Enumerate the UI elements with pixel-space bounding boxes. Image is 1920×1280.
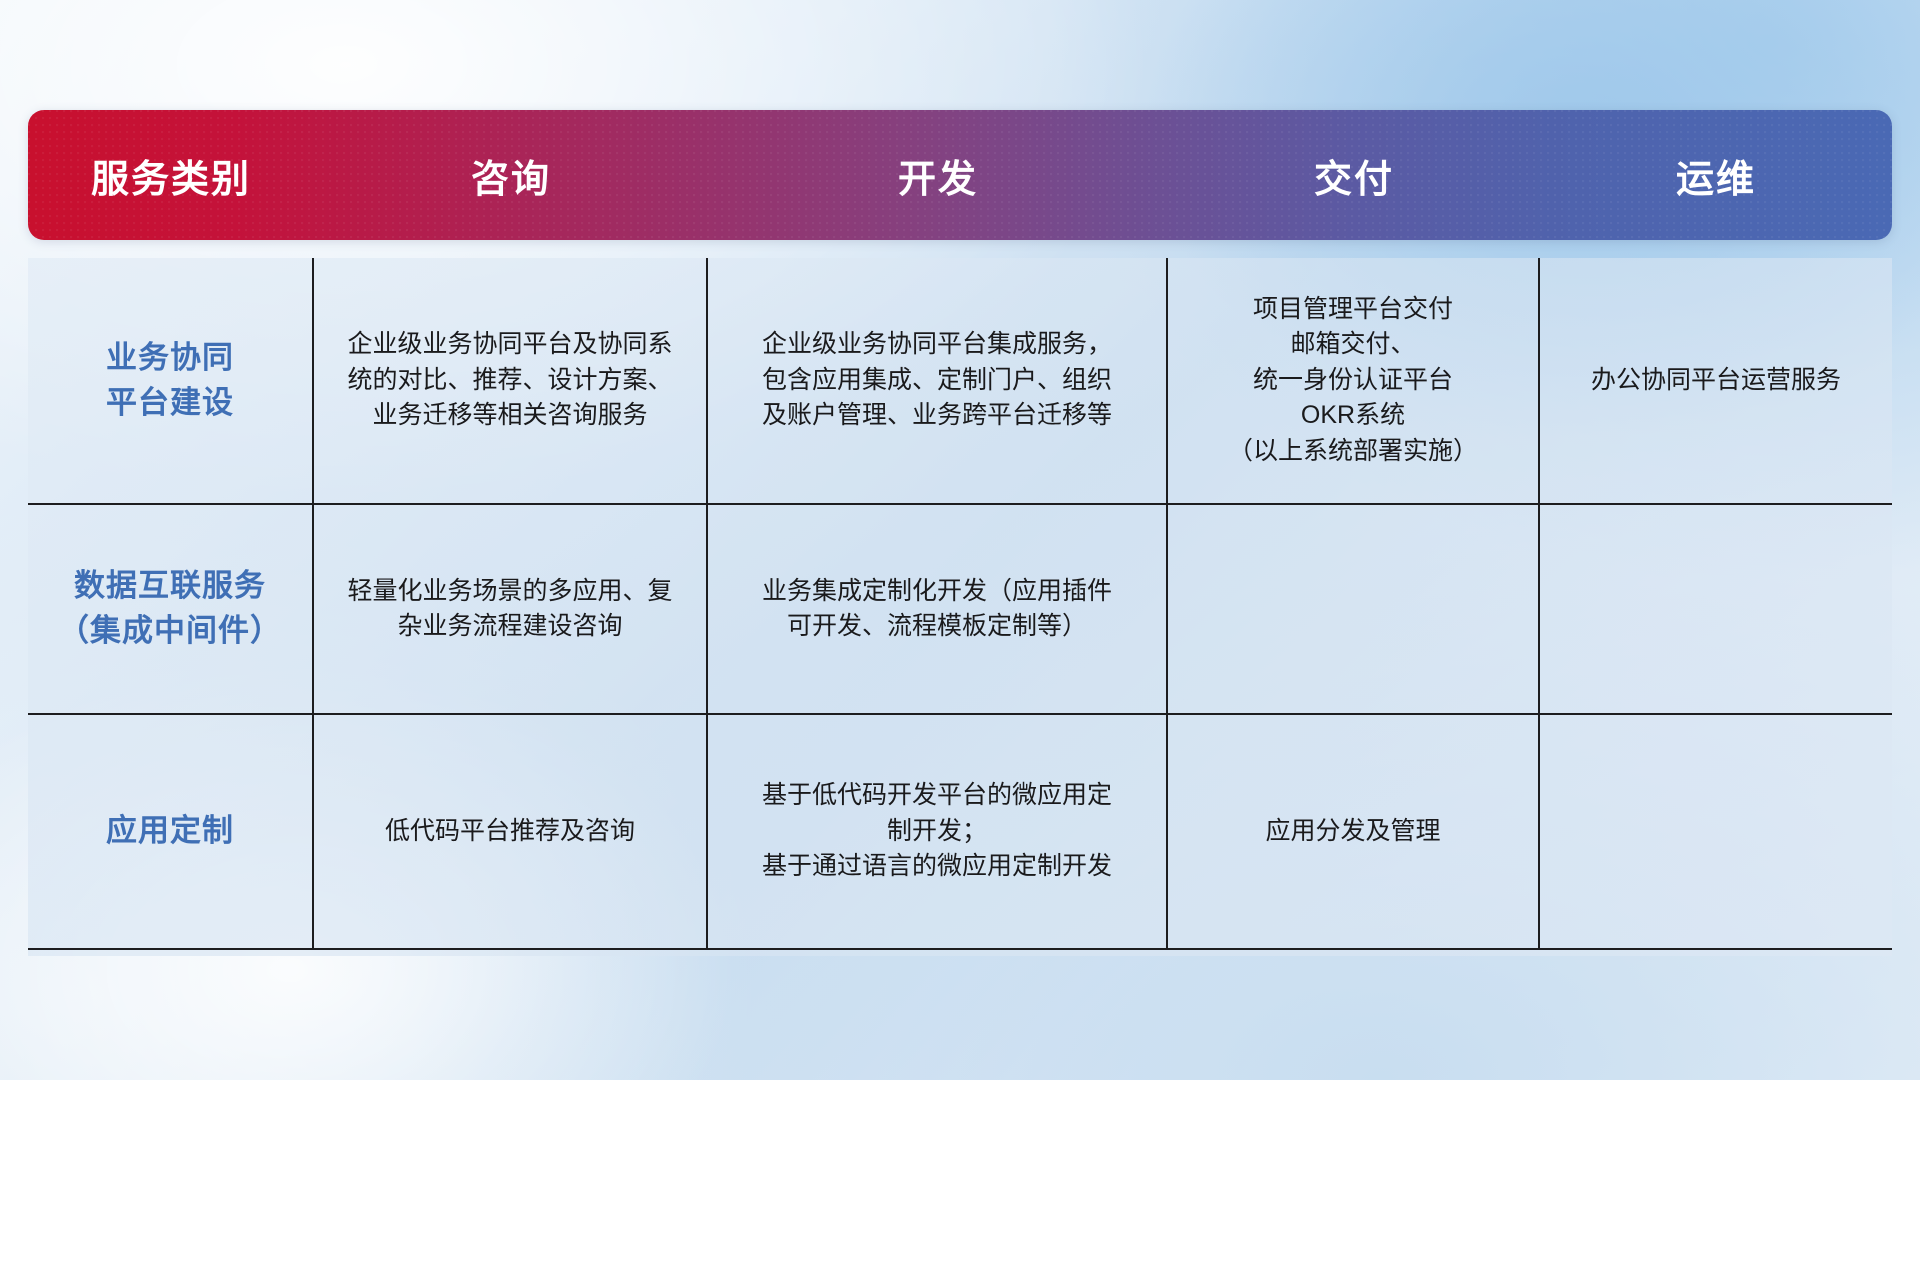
cell-delivery: 应用分发及管理 — [1168, 715, 1540, 948]
cell-operations — [1540, 715, 1892, 948]
cell-operations — [1540, 505, 1892, 713]
column-header-development: 开发 — [708, 148, 1168, 203]
cell-consulting: 低代码平台推荐及咨询 — [314, 715, 708, 948]
cell-development: 企业级业务协同平台集成服务， 包含应用集成、定制门户、组织 及账户管理、业务跨平… — [708, 258, 1168, 503]
cell-text: 企业级业务协同平台及协同系 统的对比、推荐、设计方案、 业务迁移等相关咨询服务 — [347, 327, 672, 434]
table-row: 数据互联服务 （集成中间件） 轻量化业务场景的多应用、复 杂业务流程建设咨询 业… — [28, 505, 1892, 715]
column-header-delivery: 交付 — [1168, 148, 1540, 203]
column-header-category: 服务类别 — [28, 148, 314, 203]
cell-text: 基于低代码开发平台的微应用定 制开发； 基于通过语言的微应用定制开发 — [762, 778, 1112, 885]
service-matrix-table: 服务类别 咨询 开发 交付 运维 业务协同 平台建设 企业级业务协同平台及协同系… — [28, 110, 1892, 956]
cell-category: 数据互联服务 （集成中间件） — [28, 505, 314, 713]
cell-text: 项目管理平台交付 邮箱交付、 统一身份认证平台 OKR系统 （以上系统部署实施） — [1228, 292, 1478, 470]
cell-delivery: 项目管理平台交付 邮箱交付、 统一身份认证平台 OKR系统 （以上系统部署实施） — [1168, 258, 1540, 503]
cell-category: 业务协同 平台建设 — [28, 258, 314, 503]
table-body: 业务协同 平台建设 企业级业务协同平台及协同系 统的对比、推荐、设计方案、 业务… — [28, 258, 1892, 950]
table-row: 业务协同 平台建设 企业级业务协同平台及协同系 统的对比、推荐、设计方案、 业务… — [28, 258, 1892, 505]
table-row: 应用定制 低代码平台推荐及咨询 基于低代码开发平台的微应用定 制开发； 基于通过… — [28, 715, 1892, 950]
cell-delivery — [1168, 505, 1540, 713]
cell-category: 应用定制 — [28, 715, 314, 948]
cell-text: 业务集成定制化开发（应用插件 可开发、流程模板定制等） — [762, 574, 1112, 645]
cell-consulting: 企业级业务协同平台及协同系 统的对比、推荐、设计方案、 业务迁移等相关咨询服务 — [314, 258, 708, 503]
cell-text: 应用分发及管理 — [1265, 814, 1440, 850]
slide-canvas: 服务类别 咨询 开发 交付 运维 业务协同 平台建设 企业级业务协同平台及协同系… — [0, 0, 1920, 1080]
column-header-consulting: 咨询 — [314, 148, 708, 203]
column-header-operations: 运维 — [1540, 148, 1892, 203]
cell-operations: 办公协同平台运营服务 — [1540, 258, 1892, 503]
cell-text: 数据互联服务 （集成中间件） — [58, 564, 282, 654]
cell-development: 业务集成定制化开发（应用插件 可开发、流程模板定制等） — [708, 505, 1168, 713]
cell-text: 办公协同平台运营服务 — [1591, 363, 1841, 399]
cell-text: 业务协同 平台建设 — [106, 336, 234, 426]
cell-text: 轻量化业务场景的多应用、复 杂业务流程建设咨询 — [347, 574, 672, 645]
cell-text: 应用定制 — [106, 809, 234, 854]
table-header-row: 服务类别 咨询 开发 交付 运维 — [28, 110, 1892, 240]
cell-consulting: 轻量化业务场景的多应用、复 杂业务流程建设咨询 — [314, 505, 708, 713]
cell-development: 基于低代码开发平台的微应用定 制开发； 基于通过语言的微应用定制开发 — [708, 715, 1168, 948]
cell-text: 低代码平台推荐及咨询 — [385, 814, 635, 850]
cell-text: 企业级业务协同平台集成服务， 包含应用集成、定制门户、组织 及账户管理、业务跨平… — [762, 327, 1112, 434]
